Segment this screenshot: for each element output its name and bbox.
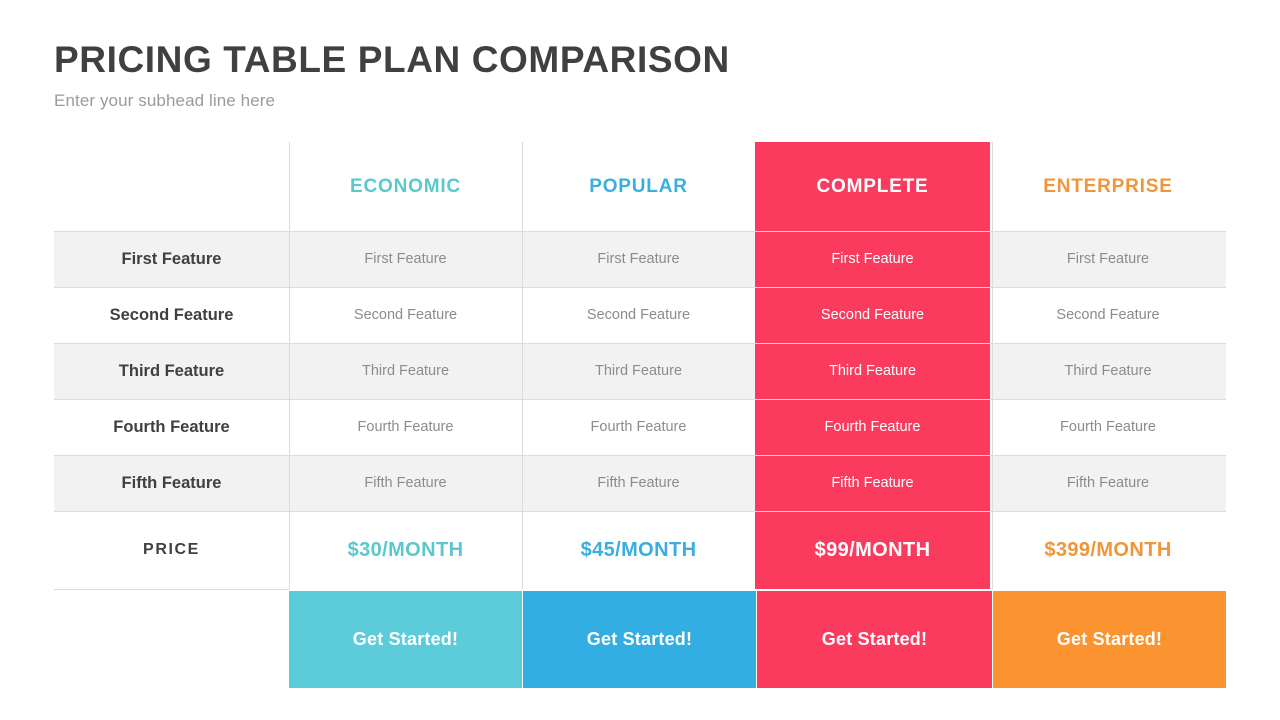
feature-cell-enterprise-fifth: Fifth Feature bbox=[990, 455, 1226, 511]
plan-header-popular[interactable]: POPULAR bbox=[522, 142, 755, 231]
plan-header-complete[interactable]: COMPLETE bbox=[755, 142, 990, 231]
cta-button-complete-label: Get Started! bbox=[822, 629, 927, 650]
cta-button-complete[interactable]: Get Started! bbox=[757, 591, 992, 688]
row-divider-price bbox=[54, 589, 289, 590]
feature-label-second: Second Feature bbox=[54, 287, 289, 343]
feature-cell-popular-fifth: Fifth Feature bbox=[522, 455, 755, 511]
row-divider-3 bbox=[54, 399, 1226, 400]
row-divider-2 bbox=[54, 343, 1226, 344]
feature-label-first: First Feature bbox=[54, 231, 289, 287]
feature-cell-complete-third: Third Feature bbox=[755, 343, 990, 399]
feature-cell-enterprise-third: Third Feature bbox=[990, 343, 1226, 399]
cta-button-economic[interactable]: Get Started! bbox=[289, 591, 522, 688]
cta-button-popular-label: Get Started! bbox=[587, 629, 692, 650]
feature-label-third: Third Feature bbox=[54, 343, 289, 399]
feature-label-fourth: Fourth Feature bbox=[54, 399, 289, 455]
page-subtitle: Enter your subhead line here bbox=[54, 91, 1234, 111]
price-complete: $99/MONTH bbox=[755, 511, 990, 589]
table-corner bbox=[54, 142, 289, 231]
cta-button-enterprise[interactable]: Get Started! bbox=[993, 591, 1226, 688]
column-divider-2 bbox=[522, 142, 523, 589]
cta-row-label-spacer bbox=[54, 589, 289, 688]
feature-cell-enterprise-first: First Feature bbox=[990, 231, 1226, 287]
price-economic: $30/MONTH bbox=[289, 511, 522, 589]
row-divider-header bbox=[54, 231, 1226, 232]
feature-cell-enterprise-fourth: Fourth Feature bbox=[990, 399, 1226, 455]
plan-header-enterprise[interactable]: ENTERPRISE bbox=[990, 142, 1226, 231]
row-divider-4 bbox=[54, 455, 1226, 456]
feature-cell-popular-fourth: Fourth Feature bbox=[522, 399, 755, 455]
slide-header: PRICING TABLE PLAN COMPARISON Enter your… bbox=[54, 40, 1234, 111]
row-divider-5 bbox=[54, 511, 1226, 512]
cta-button-economic-label: Get Started! bbox=[353, 629, 458, 650]
pricing-table: ECONOMIC POPULAR COMPLETE ENTERPRISE Fir… bbox=[54, 142, 1226, 688]
price-enterprise: $399/MONTH bbox=[990, 511, 1226, 589]
row-divider-1 bbox=[54, 287, 1226, 288]
feature-cell-economic-fourth: Fourth Feature bbox=[289, 399, 522, 455]
cta-button-enterprise-label: Get Started! bbox=[1057, 629, 1162, 650]
slide-canvas: PRICING TABLE PLAN COMPARISON Enter your… bbox=[0, 0, 1280, 720]
price-row-label: PRICE bbox=[54, 511, 289, 589]
feature-cell-complete-second: Second Feature bbox=[755, 287, 990, 343]
feature-cell-complete-first: First Feature bbox=[755, 231, 990, 287]
feature-cell-popular-third: Third Feature bbox=[522, 343, 755, 399]
column-divider-4 bbox=[992, 142, 993, 589]
feature-cell-complete-fifth: Fifth Feature bbox=[755, 455, 990, 511]
column-divider-1 bbox=[289, 142, 290, 589]
feature-cell-popular-first: First Feature bbox=[522, 231, 755, 287]
feature-cell-enterprise-second: Second Feature bbox=[990, 287, 1226, 343]
feature-cell-popular-second: Second Feature bbox=[522, 287, 755, 343]
feature-cell-economic-fifth: Fifth Feature bbox=[289, 455, 522, 511]
feature-label-fifth: Fifth Feature bbox=[54, 455, 289, 511]
plan-header-economic[interactable]: ECONOMIC bbox=[289, 142, 522, 231]
cta-button-popular[interactable]: Get Started! bbox=[523, 591, 756, 688]
page-title: PRICING TABLE PLAN COMPARISON bbox=[54, 40, 1234, 81]
price-popular: $45/MONTH bbox=[522, 511, 755, 589]
feature-cell-economic-first: First Feature bbox=[289, 231, 522, 287]
feature-cell-complete-fourth: Fourth Feature bbox=[755, 399, 990, 455]
feature-cell-economic-third: Third Feature bbox=[289, 343, 522, 399]
feature-cell-economic-second: Second Feature bbox=[289, 287, 522, 343]
